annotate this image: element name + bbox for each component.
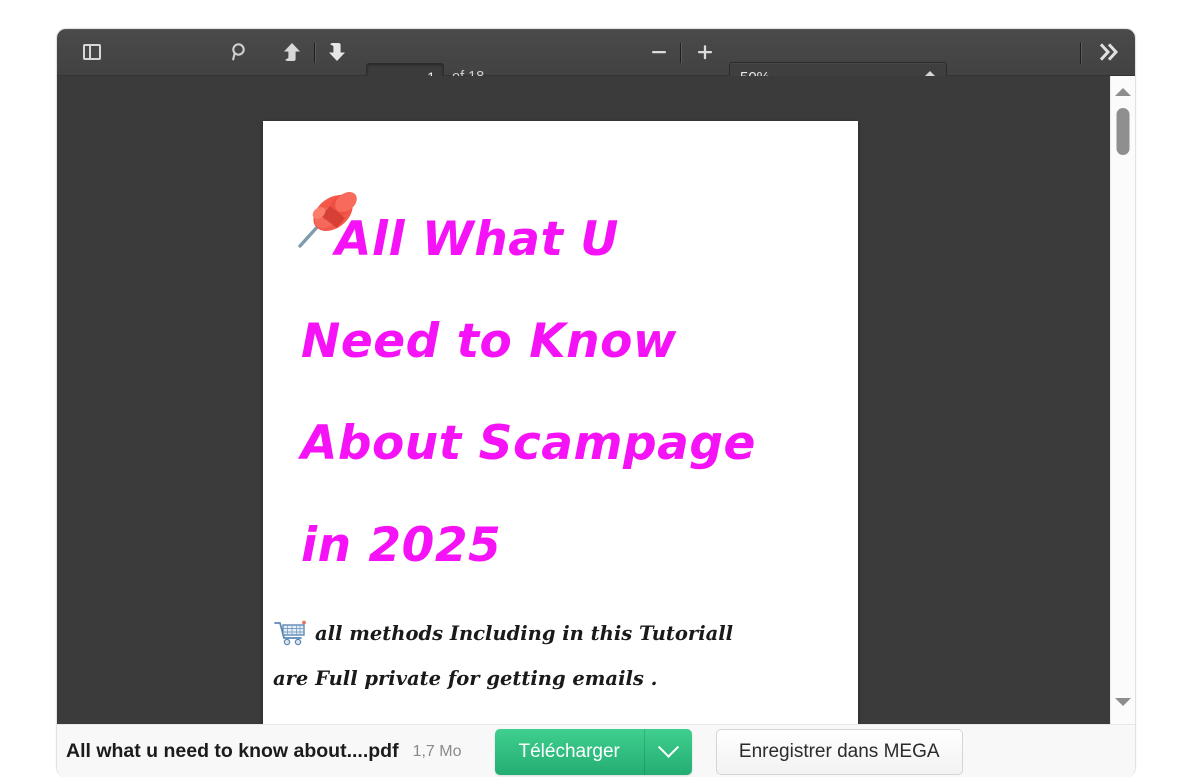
subtitle-line-2: are Full private for getting emails . bbox=[273, 656, 833, 701]
search-icon bbox=[229, 41, 251, 63]
title-line-3: About Scampage bbox=[301, 393, 835, 495]
arrow-down-icon bbox=[326, 41, 348, 63]
sidebar-icon bbox=[83, 44, 101, 60]
plus-icon bbox=[694, 41, 716, 63]
pdf-toolbar: of 18 50% bbox=[57, 29, 1136, 76]
document-title: All What U Need to Know About Scampage i… bbox=[335, 189, 835, 597]
download-button-group: Télécharger bbox=[495, 729, 692, 775]
scrollbar-thumb[interactable] bbox=[1117, 108, 1130, 155]
find-button[interactable] bbox=[225, 37, 255, 67]
title-line-2: Need to Know bbox=[301, 291, 835, 393]
download-options-button[interactable] bbox=[644, 729, 692, 775]
document-canvas[interactable]: All What U Need to Know About Scampage i… bbox=[57, 76, 1136, 724]
file-size-label: 1,7 Mo bbox=[413, 743, 462, 761]
previous-page-button[interactable] bbox=[278, 37, 306, 67]
toggle-sidebar-button[interactable] bbox=[77, 37, 107, 67]
pdf-page-1: All What U Need to Know About Scampage i… bbox=[263, 121, 858, 724]
scroll-up-arrow-icon[interactable] bbox=[1115, 88, 1131, 96]
chevron-double-right-icon bbox=[1097, 42, 1123, 62]
toolbar-separator-right bbox=[1080, 42, 1081, 64]
scroll-down-arrow-icon[interactable] bbox=[1115, 698, 1131, 706]
title-line-1: All What U bbox=[335, 189, 835, 291]
document-subtitle: all methods Including in this Tutoriall … bbox=[273, 611, 833, 701]
minus-icon bbox=[648, 41, 670, 63]
more-tools-button[interactable] bbox=[1094, 38, 1126, 66]
zoom-out-button[interactable] bbox=[645, 38, 673, 66]
download-button[interactable]: Télécharger bbox=[495, 729, 644, 775]
document-scrollbar[interactable] bbox=[1110, 76, 1135, 724]
zoom-in-button[interactable] bbox=[691, 38, 719, 66]
shopping-cart-icon bbox=[273, 619, 307, 647]
toolbar-separator-zoom bbox=[680, 43, 681, 63]
chevron-down-icon bbox=[658, 737, 679, 758]
file-action-bar: All what u need to know about....pdf 1,7… bbox=[57, 724, 1136, 777]
subtitle-line-1-row: all methods Including in this Tutoriall bbox=[273, 611, 833, 656]
arrow-up-icon bbox=[281, 41, 303, 63]
file-name-label: All what u need to know about....pdf bbox=[66, 740, 399, 763]
title-line-4: in 2025 bbox=[301, 495, 835, 597]
pdf-viewer-card: of 18 50% bbox=[56, 28, 1136, 777]
toolbar-separator-nav bbox=[314, 43, 315, 63]
save-to-mega-button[interactable]: Enregistrer dans MEGA bbox=[716, 729, 963, 775]
subtitle-line-1: all methods Including in this Tutoriall bbox=[315, 622, 733, 645]
page-root: of 18 50% bbox=[0, 0, 1192, 777]
next-page-button[interactable] bbox=[323, 37, 351, 67]
